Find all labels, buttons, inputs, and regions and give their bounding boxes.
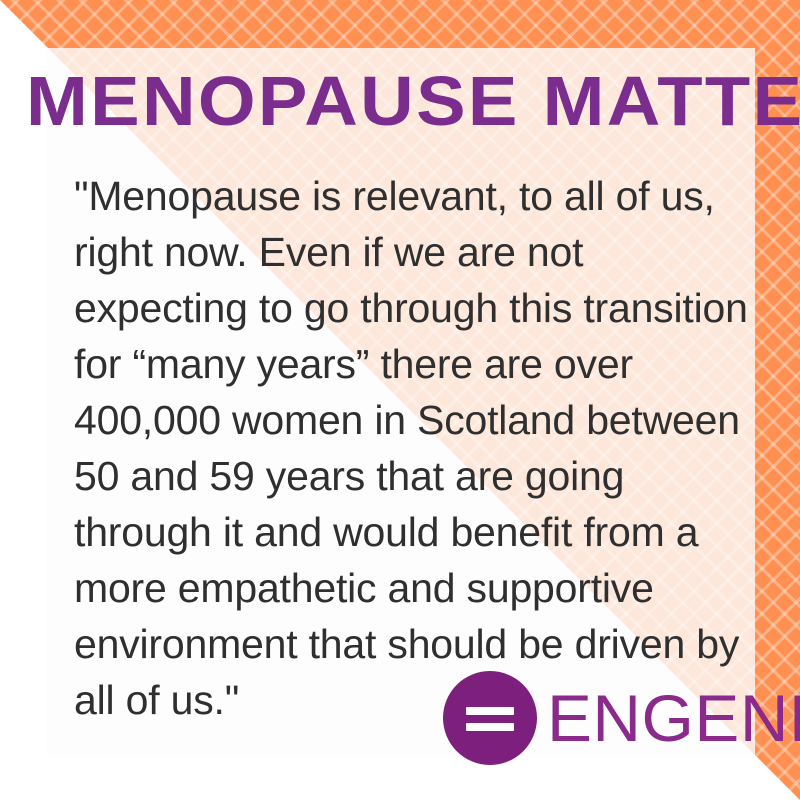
engender-wordmark: ENGENDER: [547, 685, 800, 751]
quote-line: for “many years” there are over: [74, 336, 750, 392]
quote-line: right now. Even if we are not: [74, 224, 750, 280]
quote-line: expecting to go through this transition: [74, 280, 750, 336]
quote-line: through it and would benefit from a: [74, 504, 750, 560]
equals-sign-icon: [443, 671, 537, 765]
quote-line: 50 and 59 years that are going: [74, 448, 750, 504]
poster-canvas: MENOPAUSE MATTERS "Menopause is relevant…: [0, 0, 800, 800]
page-title: MENOPAUSE MATTERS: [26, 62, 800, 140]
quote-line: environment that should be driven by: [74, 616, 750, 672]
engender-logo: ENGENDER: [443, 671, 800, 765]
quote-line: "Menopause is relevant, to all of us,: [74, 168, 750, 224]
equals-bar-top: [466, 707, 514, 715]
quote-line: 400,000 women in Scotland between: [74, 392, 750, 448]
quote-line: more empathetic and supportive: [74, 560, 750, 616]
quote-block: "Menopause is relevant, to all of us, ri…: [74, 168, 750, 728]
equals-bar-bottom: [466, 723, 514, 731]
